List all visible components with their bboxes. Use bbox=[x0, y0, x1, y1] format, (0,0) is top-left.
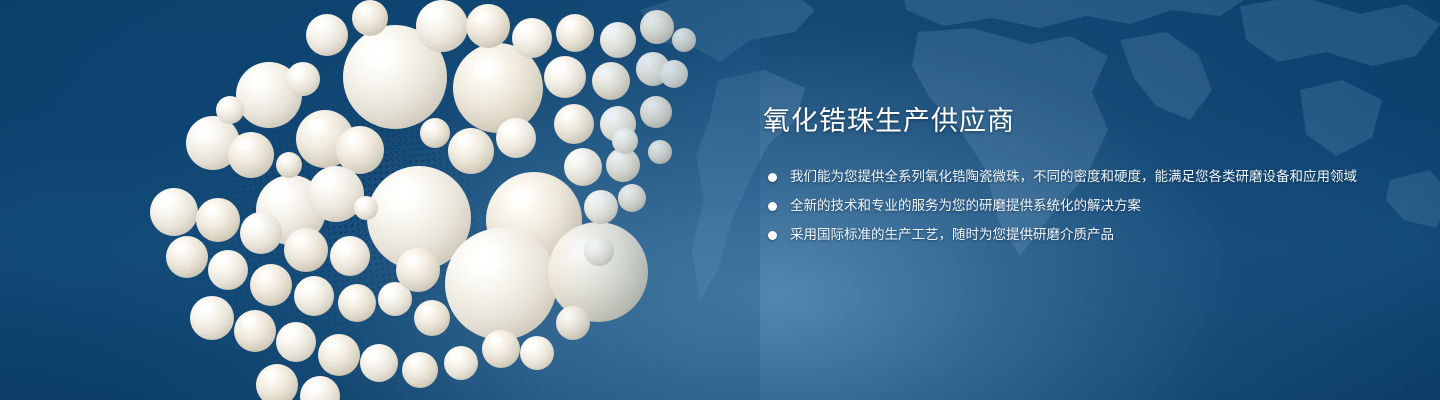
hero-banner: 氧化锆珠生产供应商 我们能为您提供全系列氧化锆陶瓷微珠，不同的密度和硬度，能满足… bbox=[0, 0, 1440, 400]
banner-vignette bbox=[0, 0, 1440, 400]
